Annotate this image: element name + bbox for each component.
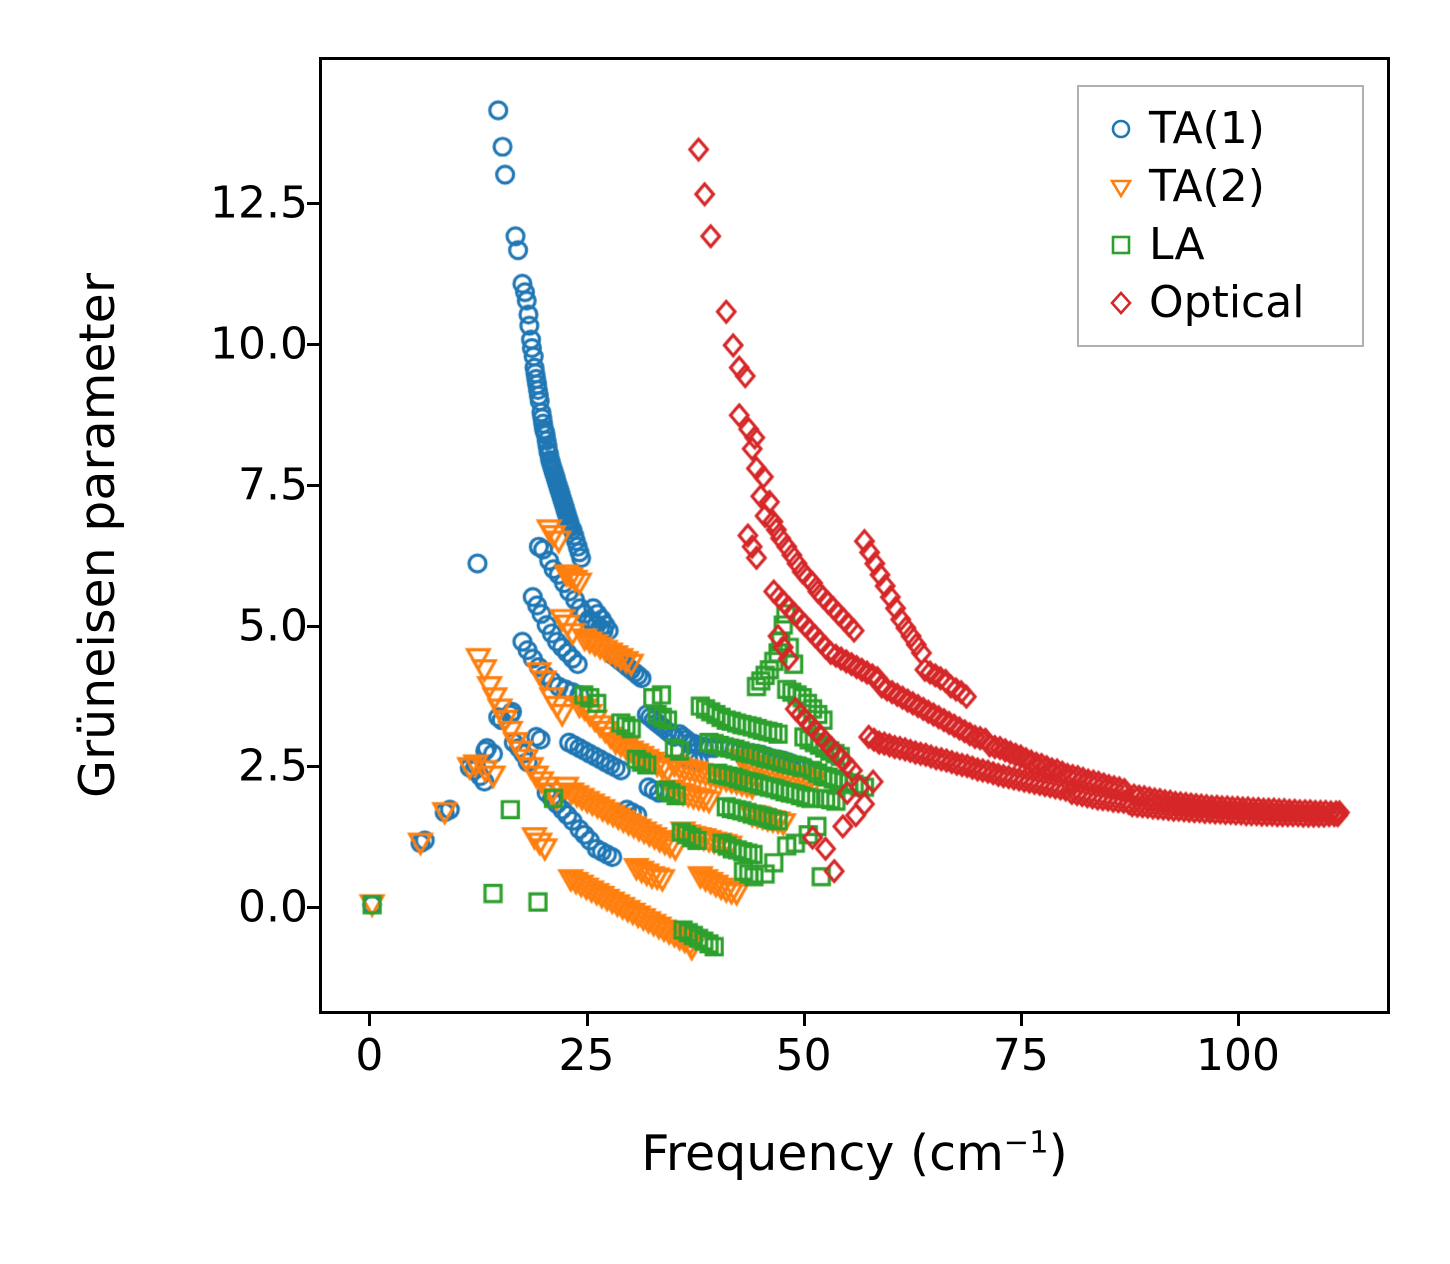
y-tick-mark <box>307 202 319 205</box>
x-tick-label: 75 <box>993 1030 1049 1081</box>
legend-item-la[interactable]: LA <box>1093 216 1348 274</box>
x-tick-label: 50 <box>776 1030 832 1081</box>
y-tick-label: 12.5 <box>210 178 308 229</box>
x-tick-label: 0 <box>355 1030 383 1081</box>
x-axis-title: Frequency (cm−1) <box>319 1125 1390 1182</box>
legend-item-label: LA <box>1149 223 1205 267</box>
legend-item-ta2[interactable]: TA(2) <box>1093 158 1348 216</box>
x-tick-label: 100 <box>1196 1030 1280 1081</box>
legend-item-label: TA(1) <box>1149 107 1265 151</box>
y-tick-label: 10.0 <box>210 319 308 370</box>
diamond-icon <box>1093 288 1149 318</box>
x-tick-mark <box>368 1014 371 1026</box>
legend-item-ta1[interactable]: TA(1) <box>1093 100 1348 158</box>
x-axis-title-main: Frequency (cm <box>641 1125 1004 1182</box>
legend-item-optical[interactable]: Optical <box>1093 274 1348 332</box>
legend-box: TA(1)TA(2)LAOptical <box>1077 85 1364 347</box>
x-tick-mark <box>1237 1014 1240 1026</box>
y-tick-mark <box>307 906 319 909</box>
y-tick-mark <box>307 625 319 628</box>
x-axis-title-tail: ) <box>1049 1125 1068 1182</box>
circle-icon <box>1093 114 1149 144</box>
x-tick-label: 25 <box>559 1030 615 1081</box>
legend-item-label: TA(2) <box>1149 165 1265 209</box>
figure-canvas: 02550751000.02.55.07.510.012.5 Grüneisen… <box>0 0 1450 1264</box>
legend-item-label: Optical <box>1149 281 1304 325</box>
y-tick-mark <box>307 343 319 346</box>
square-icon <box>1093 230 1149 260</box>
y-axis-title: Grüneisen parameter <box>62 57 132 1014</box>
y-tick-mark <box>307 765 319 768</box>
y-tick-label: 2.5 <box>238 741 308 792</box>
x-tick-mark <box>803 1014 806 1026</box>
x-tick-mark <box>1020 1014 1023 1026</box>
x-tick-mark <box>586 1014 589 1026</box>
y-tick-mark <box>307 484 319 487</box>
x-axis-title-exponent: −1 <box>1004 1126 1049 1161</box>
triangle-down-icon <box>1093 172 1149 202</box>
y-tick-label: 0.0 <box>238 882 308 933</box>
y-tick-label: 5.0 <box>238 600 308 651</box>
y-tick-label: 7.5 <box>238 459 308 510</box>
